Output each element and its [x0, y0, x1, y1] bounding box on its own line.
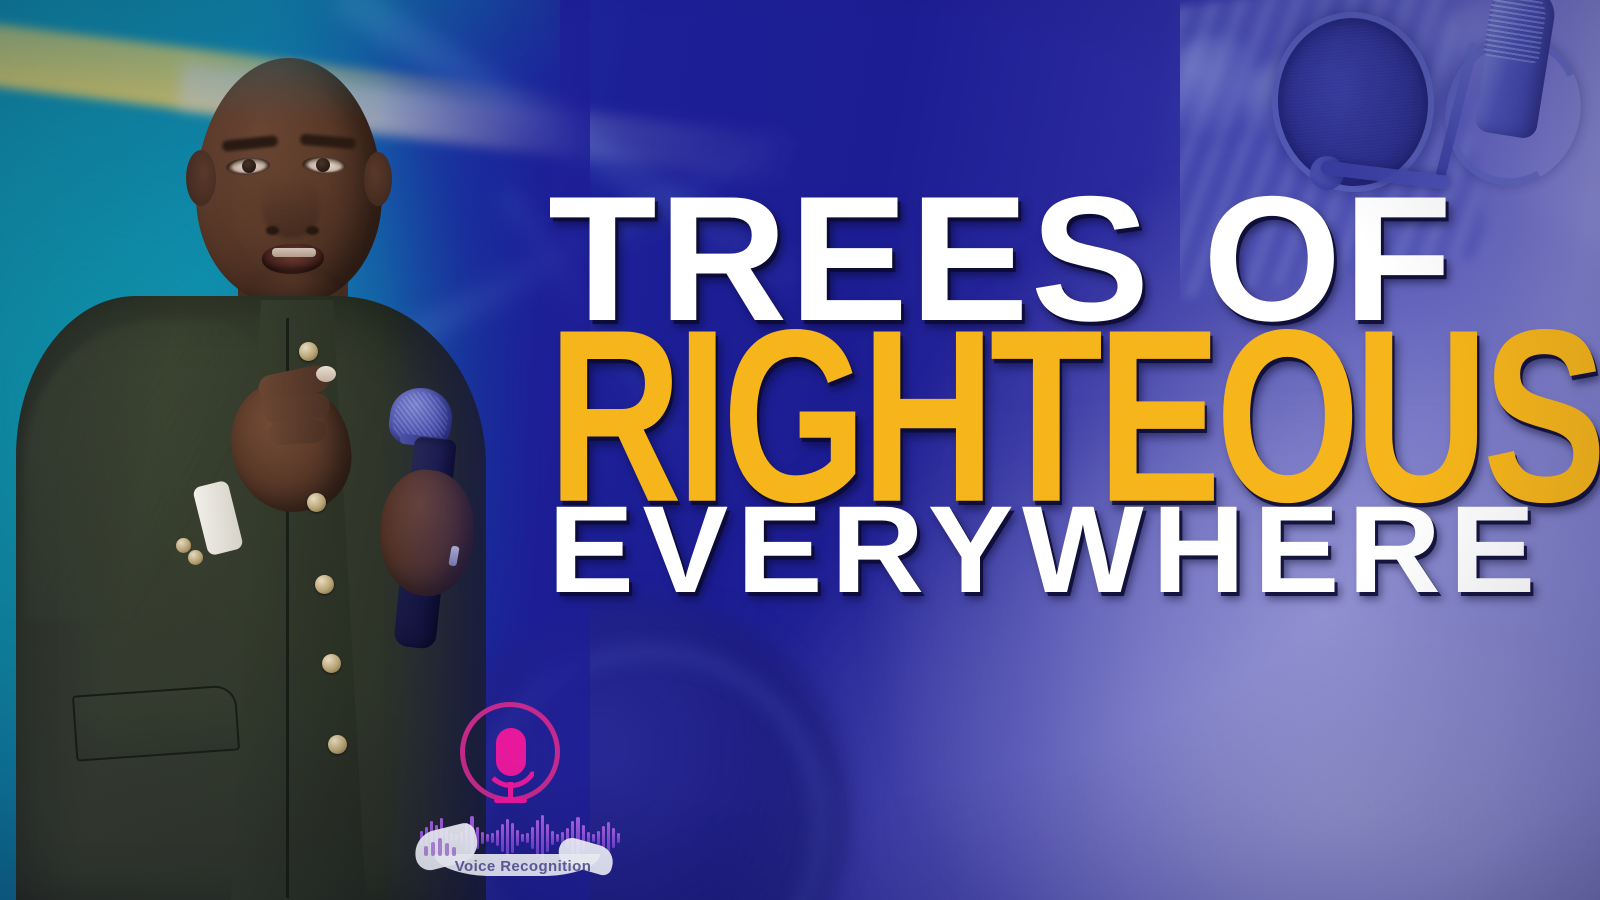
waveform-bar — [612, 828, 615, 848]
waveform-bar — [511, 823, 514, 853]
presenter-ear-right — [364, 152, 392, 206]
logo-small-bars — [424, 838, 456, 856]
presenter-sleeve-buttons — [176, 536, 210, 570]
presenter-thumb-tip — [316, 366, 336, 382]
presenter-jacket-button-2 — [307, 493, 326, 512]
presenter-nostril-right — [306, 226, 319, 235]
microphone-base-icon — [494, 798, 527, 803]
waveform-bar — [496, 830, 499, 846]
waveform-bar — [516, 830, 519, 846]
waveform-bar-small — [452, 847, 456, 856]
voice-recognition-logo: Voice Recognition — [408, 702, 628, 892]
presenter-pupil-left — [242, 159, 256, 173]
presenter-nostril-left — [266, 226, 279, 235]
waveform-bar-small — [424, 846, 428, 856]
waveform-bar — [526, 833, 529, 843]
presenter-ear-left — [186, 150, 216, 206]
waveform-bar-small — [431, 842, 435, 856]
presenter-teeth — [272, 248, 316, 257]
waveform-bar-small — [438, 838, 442, 856]
waveform-bar — [551, 831, 554, 845]
waveform-bar — [531, 827, 534, 849]
presenter-finger-3 — [267, 418, 327, 446]
title-block: TREES OF RIGHTEOUSNESS EVERYWHERE — [548, 182, 1478, 603]
waveform-bar — [597, 831, 600, 845]
waveform-bar — [592, 834, 595, 842]
waveform-bar-small — [445, 843, 449, 856]
presenter-jacket-button-1 — [299, 342, 318, 361]
waveform-bar — [486, 834, 489, 842]
microphone-grille — [1483, 0, 1550, 64]
presenter-jacket-button-5 — [328, 735, 347, 754]
title-line-3: EVERYWHERE — [548, 497, 1515, 604]
presenter-jacket-button-4 — [322, 654, 341, 673]
waveform-bar — [521, 834, 524, 842]
waveform-bar — [481, 832, 484, 844]
presenter-pupil-right — [316, 158, 330, 172]
waveform-bar — [501, 824, 504, 852]
waveform-bar — [506, 819, 509, 857]
logo-label: Voice Recognition — [438, 858, 608, 875]
waveform-bar — [617, 833, 620, 843]
waveform-bar — [491, 833, 494, 843]
presenter-jacket-pocket — [72, 684, 240, 761]
youtube-thumbnail: TREES OF RIGHTEOUSNESS EVERYWHERE Voice … — [0, 0, 1600, 900]
waveform-bar — [546, 824, 549, 852]
presenter-jacket-button-3 — [315, 575, 334, 594]
waveform-bar — [556, 834, 559, 842]
waveform-bar — [536, 820, 539, 856]
